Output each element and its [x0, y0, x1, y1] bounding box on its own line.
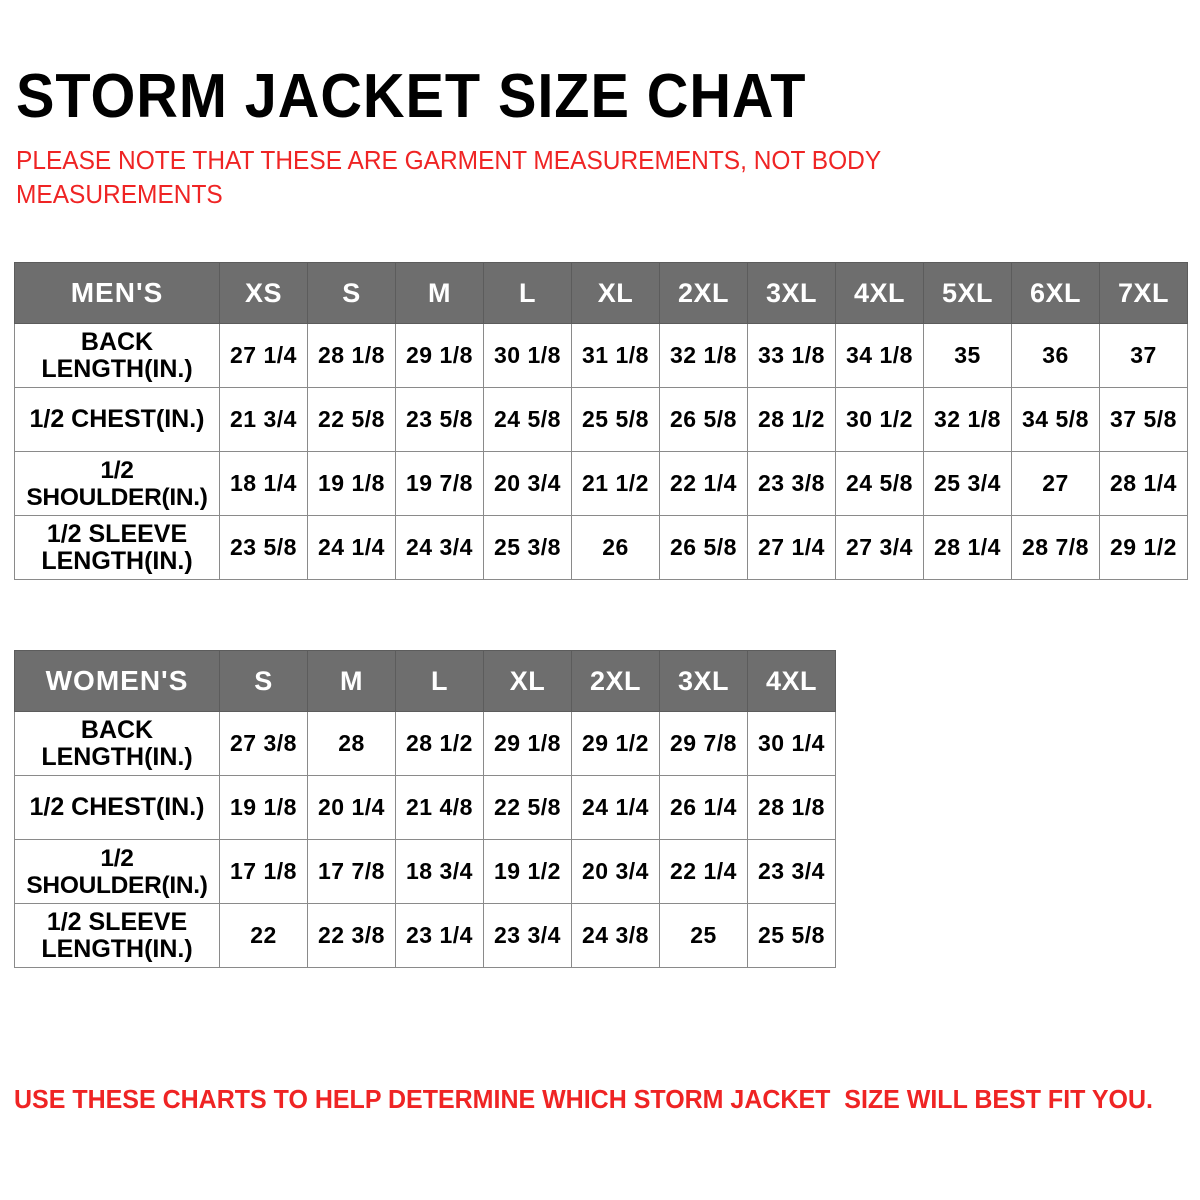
- measurement-value-s: 28 1/8: [308, 324, 396, 388]
- measurement-value-xl: 29 1/8: [484, 712, 572, 776]
- measurement-value-m: 20 1/4: [308, 776, 396, 840]
- measurement-value-m: 22 3/8: [308, 904, 396, 968]
- measurement-value-l: 18 3/4: [396, 840, 484, 904]
- size-header-4xl: 4XL: [836, 263, 924, 324]
- measurement-value-5xl: 35: [924, 324, 1012, 388]
- size-header-xl: XL: [572, 263, 660, 324]
- measurement-value-4xl: 24 5/8: [836, 452, 924, 516]
- measurement-value-m: 29 1/8: [396, 324, 484, 388]
- size-header-l: L: [396, 651, 484, 712]
- measurement-value-2xl: 29 1/2: [572, 712, 660, 776]
- measurement-value-2xl: 24 3/8: [572, 904, 660, 968]
- measurement-value-2xl: 20 3/4: [572, 840, 660, 904]
- measurement-value-2xl: 24 1/4: [572, 776, 660, 840]
- measurement-value-6xl: 27: [1012, 452, 1100, 516]
- measurement-value-3xl: 22 1/4: [660, 840, 748, 904]
- measurement-label: 1/2 CHEST(IN.): [15, 388, 220, 452]
- measurement-value-3xl: 23 3/8: [748, 452, 836, 516]
- size-header-xl: XL: [484, 651, 572, 712]
- size-header-2xl: 2XL: [660, 263, 748, 324]
- measurement-value-l: 24 5/8: [484, 388, 572, 452]
- measurement-value-l: 20 3/4: [484, 452, 572, 516]
- size-header-4xl: 4XL: [748, 651, 836, 712]
- size-header-3xl: 3XL: [748, 263, 836, 324]
- table-row: 1/2 SHOULDER(IN.)18 1/419 1/819 7/820 3/…: [15, 452, 1188, 516]
- size-header-m: M: [308, 651, 396, 712]
- measurement-value-7xl: 37: [1100, 324, 1188, 388]
- measurement-value-xs: 21 3/4: [220, 388, 308, 452]
- measurement-value-s: 22: [220, 904, 308, 968]
- measurement-value-5xl: 25 3/4: [924, 452, 1012, 516]
- measurement-value-5xl: 32 1/8: [924, 388, 1012, 452]
- size-header-s: S: [308, 263, 396, 324]
- measurement-value-m: 23 5/8: [396, 388, 484, 452]
- table-row: 1/2 CHEST(IN.)21 3/422 5/823 5/824 5/825…: [15, 388, 1188, 452]
- womens-corner-header: WOMEN'S: [15, 651, 220, 712]
- table-row: BACK LENGTH(IN.)27 3/82828 1/229 1/829 1…: [15, 712, 836, 776]
- measurement-value-3xl: 27 1/4: [748, 516, 836, 580]
- measurement-value-m: 19 7/8: [396, 452, 484, 516]
- size-header-7xl: 7XL: [1100, 263, 1188, 324]
- table-row: 1/2 SLEEVE LENGTH(IN.)2222 3/823 1/423 3…: [15, 904, 836, 968]
- measurement-value-3xl: 25: [660, 904, 748, 968]
- measurement-value-6xl: 28 7/8: [1012, 516, 1100, 580]
- measurement-value-3xl: 26 1/4: [660, 776, 748, 840]
- size-chart-page: STORM JACKET SIZE CHAT PLEASE NOTE THAT …: [0, 0, 1200, 1200]
- table-row: 1/2 SLEEVE LENGTH(IN.)23 5/824 1/424 3/4…: [15, 516, 1188, 580]
- measurement-label: 1/2 SLEEVE LENGTH(IN.): [15, 904, 220, 968]
- table-row: BACK LENGTH(IN.)27 1/428 1/829 1/830 1/8…: [15, 324, 1188, 388]
- mens-corner-header: MEN'S: [15, 263, 220, 324]
- measurement-value-2xl: 26 5/8: [660, 516, 748, 580]
- measurement-value-5xl: 28 1/4: [924, 516, 1012, 580]
- measurement-value-m: 24 3/4: [396, 516, 484, 580]
- size-header-xs: XS: [220, 263, 308, 324]
- measurement-value-l: 30 1/8: [484, 324, 572, 388]
- measurement-value-xs: 27 1/4: [220, 324, 308, 388]
- measurement-label: 1/2 CHEST(IN.): [15, 776, 220, 840]
- mens-size-table: MEN'SXSSMLXL2XL3XL4XL5XL6XL7XL BACK LENG…: [14, 262, 1188, 580]
- size-header-s: S: [220, 651, 308, 712]
- measurement-value-3xl: 28 1/2: [748, 388, 836, 452]
- garment-measurement-note: PLEASE NOTE THAT THESE ARE GARMENT MEASU…: [16, 144, 938, 212]
- measurement-value-4xl: 30 1/2: [836, 388, 924, 452]
- measurement-value-l: 25 3/8: [484, 516, 572, 580]
- size-header-5xl: 5XL: [924, 263, 1012, 324]
- womens-header-row: WOMEN'SSMLXL2XL3XL4XL: [15, 651, 836, 712]
- measurement-value-s: 22 5/8: [308, 388, 396, 452]
- measurement-value-6xl: 34 5/8: [1012, 388, 1100, 452]
- size-header-2xl: 2XL: [572, 651, 660, 712]
- womens-size-table: WOMEN'SSMLXL2XL3XL4XL BACK LENGTH(IN.)27…: [14, 650, 836, 968]
- measurement-value-l: 21 4/8: [396, 776, 484, 840]
- mens-table-head: MEN'SXSSMLXL2XL3XL4XL5XL6XL7XL: [15, 263, 1188, 324]
- measurement-label: BACK LENGTH(IN.): [15, 324, 220, 388]
- measurement-value-4xl: 25 5/8: [748, 904, 836, 968]
- measurement-value-xl: 25 5/8: [572, 388, 660, 452]
- measurement-label: 1/2 SLEEVE LENGTH(IN.): [15, 516, 220, 580]
- table-row: 1/2 SHOULDER(IN.)17 1/817 7/818 3/419 1/…: [15, 840, 836, 904]
- measurement-value-2xl: 22 1/4: [660, 452, 748, 516]
- measurement-value-4xl: 28 1/8: [748, 776, 836, 840]
- measurement-value-2xl: 26 5/8: [660, 388, 748, 452]
- measurement-value-3xl: 33 1/8: [748, 324, 836, 388]
- page-title: STORM JACKET SIZE CHAT: [16, 64, 806, 130]
- determine-size-note: USE THESE CHARTS TO HELP DETERMINE WHICH…: [14, 1084, 1153, 1116]
- measurement-value-xs: 18 1/4: [220, 452, 308, 516]
- measurement-value-4xl: 27 3/4: [836, 516, 924, 580]
- measurement-value-xl: 19 1/2: [484, 840, 572, 904]
- measurement-label: BACK LENGTH(IN.): [15, 712, 220, 776]
- table-row: 1/2 CHEST(IN.)19 1/820 1/421 4/822 5/824…: [15, 776, 836, 840]
- measurement-value-7xl: 29 1/2: [1100, 516, 1188, 580]
- measurement-value-xl: 21 1/2: [572, 452, 660, 516]
- womens-table-head: WOMEN'SSMLXL2XL3XL4XL: [15, 651, 836, 712]
- measurement-value-m: 17 7/8: [308, 840, 396, 904]
- measurement-value-m: 28: [308, 712, 396, 776]
- measurement-value-4xl: 34 1/8: [836, 324, 924, 388]
- measurement-value-xl: 31 1/8: [572, 324, 660, 388]
- measurement-value-xl: 22 5/8: [484, 776, 572, 840]
- measurement-value-4xl: 23 3/4: [748, 840, 836, 904]
- measurement-value-l: 28 1/2: [396, 712, 484, 776]
- measurement-value-s: 27 3/8: [220, 712, 308, 776]
- measurement-value-s: 19 1/8: [220, 776, 308, 840]
- womens-table-body: BACK LENGTH(IN.)27 3/82828 1/229 1/829 1…: [15, 712, 836, 968]
- size-header-m: M: [396, 263, 484, 324]
- measurement-value-s: 17 1/8: [220, 840, 308, 904]
- size-header-l: L: [484, 263, 572, 324]
- measurement-value-l: 23 1/4: [396, 904, 484, 968]
- measurement-value-7xl: 28 1/4: [1100, 452, 1188, 516]
- mens-header-row: MEN'SXSSMLXL2XL3XL4XL5XL6XL7XL: [15, 263, 1188, 324]
- measurement-label: 1/2 SHOULDER(IN.): [15, 840, 220, 904]
- measurement-value-4xl: 30 1/4: [748, 712, 836, 776]
- measurement-value-s: 24 1/4: [308, 516, 396, 580]
- measurement-value-s: 19 1/8: [308, 452, 396, 516]
- measurement-value-3xl: 29 7/8: [660, 712, 748, 776]
- size-header-3xl: 3XL: [660, 651, 748, 712]
- mens-table-body: BACK LENGTH(IN.)27 1/428 1/829 1/830 1/8…: [15, 324, 1188, 580]
- measurement-value-xl: 23 3/4: [484, 904, 572, 968]
- measurement-label: 1/2 SHOULDER(IN.): [15, 452, 220, 516]
- measurement-value-xl: 26: [572, 516, 660, 580]
- measurement-value-2xl: 32 1/8: [660, 324, 748, 388]
- size-header-6xl: 6XL: [1012, 263, 1100, 324]
- measurement-value-xs: 23 5/8: [220, 516, 308, 580]
- measurement-value-7xl: 37 5/8: [1100, 388, 1188, 452]
- measurement-value-6xl: 36: [1012, 324, 1100, 388]
